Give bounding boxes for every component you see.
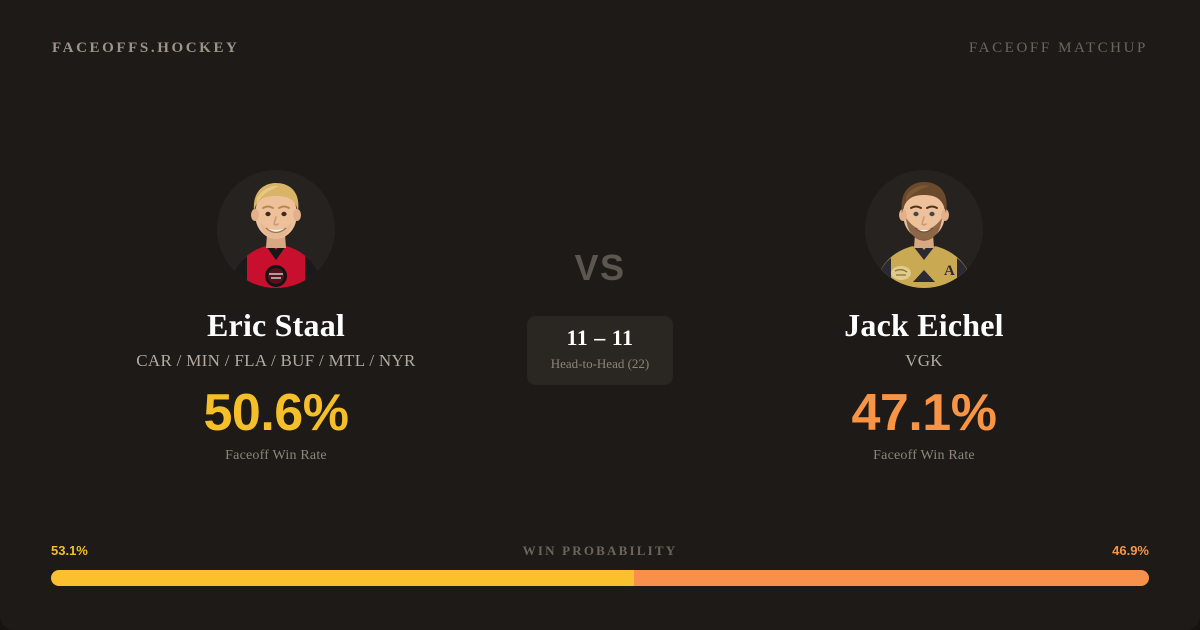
matchup-card: FACEOFFS.HOCKEY FACEOFF MATCHUP (0, 0, 1200, 630)
player-faceoff-pct-right: 47.1% (689, 387, 1159, 439)
player-teams-right: VGK (689, 351, 1159, 371)
head-to-head-card: 11 – 11 Head-to-Head (22) (527, 316, 673, 385)
player-panel-right: A (689, 150, 1159, 464)
svg-text:A: A (944, 263, 955, 279)
player-name-right: Jack Eichel (689, 308, 1159, 343)
win-probability-bar-right-segment (634, 570, 1149, 586)
avatar-illustration-right: A (865, 170, 983, 288)
player-faceoff-pct-left: 50.6% (41, 387, 511, 439)
player-faceoff-label-right: Faceoff Win Rate (689, 448, 1159, 464)
avatar-illustration-left (217, 170, 335, 288)
site-brand: FACEOFFS.HOCKEY (52, 40, 239, 57)
win-probability-bar-left-segment (51, 570, 634, 586)
matchup-row: Eric Staal CAR / MIN / FLA / BUF / MTL /… (0, 150, 1200, 470)
player-headshot-left (217, 170, 335, 288)
page-kicker: FACEOFF MATCHUP (969, 40, 1148, 57)
win-probability-title: WIN PROBABILITY (51, 540, 1149, 562)
player-panel-left: Eric Staal CAR / MIN / FLA / BUF / MTL /… (41, 150, 511, 464)
win-probability-section: 53.1% WIN PROBABILITY 46.9% (51, 540, 1149, 586)
win-probability-legend: 53.1% WIN PROBABILITY 46.9% (51, 540, 1149, 562)
head-to-head-label: Head-to-Head (22) (535, 356, 665, 372)
player-name-left: Eric Staal (41, 308, 511, 343)
win-probability-bar (51, 570, 1149, 586)
page-header: FACEOFFS.HOCKEY FACEOFF MATCHUP (0, 0, 1200, 96)
player-faceoff-label-left: Faceoff Win Rate (41, 448, 511, 464)
head-to-head-score: 11 – 11 (535, 327, 665, 349)
win-probability-right-value: 46.9% (1112, 540, 1149, 562)
player-headshot-right: A (865, 170, 983, 288)
player-teams-left: CAR / MIN / FLA / BUF / MTL / NYR (41, 351, 511, 371)
